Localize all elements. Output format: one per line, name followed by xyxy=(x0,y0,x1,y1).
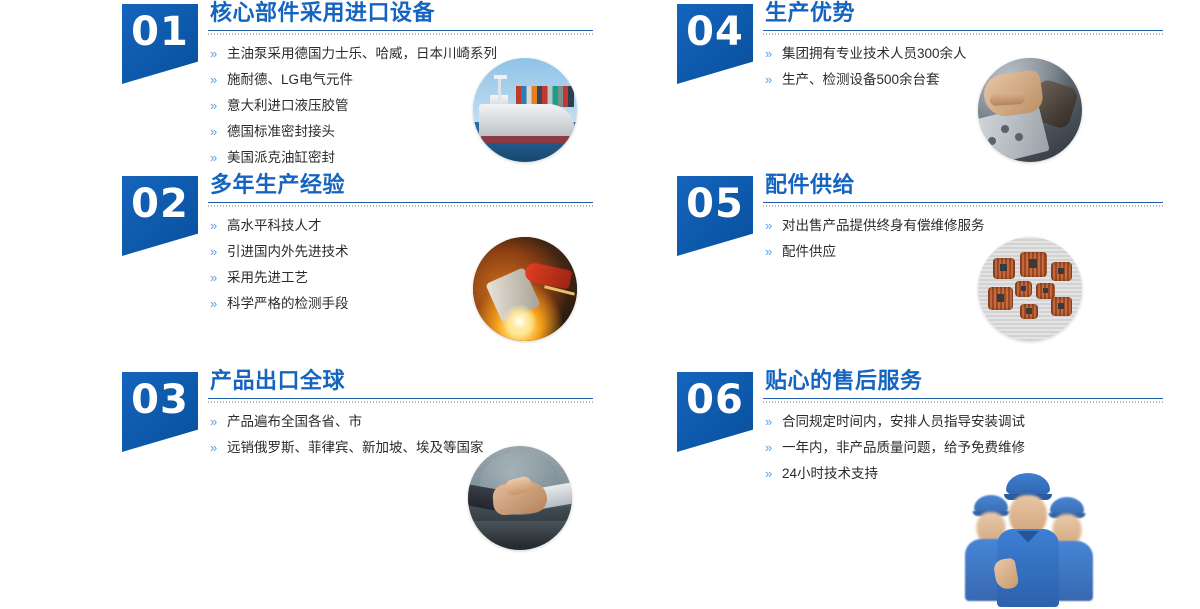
welding-sparks-photo xyxy=(473,237,577,341)
title-divider xyxy=(208,202,593,208)
divider-dotted-line xyxy=(763,33,1163,35)
list-item-label: 一年内，非产品质量问题，给予免费维修 xyxy=(782,440,1025,455)
list-item-label: 产品遍布全国各省、市 xyxy=(227,414,362,429)
list-item-label: 合同规定时间内，安排人员指导安装调试 xyxy=(782,414,1025,429)
list-item-label: 施耐德、LG电气元件 xyxy=(227,72,353,87)
list-item: » 一年内，非产品质量问题，给予免费维修 xyxy=(765,439,1200,457)
divider-dotted-line xyxy=(763,205,1163,207)
chevron-right-icon: » xyxy=(765,439,772,457)
list-item-label: 科学严格的检测手段 xyxy=(227,296,349,311)
chevron-right-icon: » xyxy=(765,413,772,431)
chevron-right-icon: » xyxy=(210,243,217,261)
chevron-right-icon: » xyxy=(765,71,772,89)
divider-solid-line xyxy=(763,202,1163,203)
worker-center xyxy=(997,473,1059,604)
number-badge-01: 01 xyxy=(122,4,198,84)
feature-title: 产品出口全球 xyxy=(208,368,665,396)
list-item: » 对出售产品提供终身有偿维修服务 xyxy=(765,217,1200,235)
feature-title: 贴心的售后服务 xyxy=(763,368,1200,396)
feature-title: 核心部件采用进口设备 xyxy=(208,0,665,28)
feature-title: 配件供给 xyxy=(763,172,1200,200)
spark-glow xyxy=(502,304,537,339)
list-item-label: 高水平科技人才 xyxy=(227,218,322,233)
list-item: » 意大利进口液压胶管 xyxy=(210,97,665,115)
list-item-label: 配件供应 xyxy=(782,244,836,259)
photo-inner xyxy=(473,58,577,162)
chevron-right-icon: » xyxy=(210,97,217,115)
feature-content-02: 多年生产经验 » 高水平科技人才 » 引进国内外先进技术 » xyxy=(208,172,665,367)
badge-number: 02 xyxy=(122,184,198,224)
list-item: » 远销俄罗斯、菲律宾、新加坡、埃及等国家 xyxy=(210,439,665,457)
feature-bullet-list: » 高水平科技人才 » 引进国内外先进技术 » 采用先进工艺 » 科学严格的检测… xyxy=(208,208,665,313)
feature-block-04: 04 生产优势 » 集团拥有专业技术人员300余人 » 生产、检测设备500余台… xyxy=(665,0,1200,195)
photo-inner xyxy=(473,237,577,341)
feature-content-01: 核心部件采用进口设备 » 主油泵采用德国力士乐、哈威，日本川崎系列 » 施耐德、… xyxy=(208,0,665,195)
list-item: » 科学严格的检测手段 xyxy=(210,295,665,313)
number-badge-06: 06 xyxy=(677,372,753,452)
list-item: » 高水平科技人才 xyxy=(210,217,665,235)
badge-number: 03 xyxy=(122,380,198,420)
copper-coil xyxy=(993,258,1016,279)
list-item: » 美国派克油缸密封 xyxy=(210,149,665,167)
feature-title: 生产优势 xyxy=(763,0,1200,28)
feature-title: 多年生产经验 xyxy=(208,172,665,200)
list-item-label: 对出售产品提供终身有偿维修服务 xyxy=(782,218,985,233)
list-item-label: 远销俄罗斯、菲律宾、新加坡、埃及等国家 xyxy=(227,440,484,455)
badge-number: 06 xyxy=(677,380,753,420)
title-divider xyxy=(763,202,1163,208)
chevron-right-icon: » xyxy=(765,217,772,235)
bolt-hole xyxy=(1001,125,1009,133)
ship-hull-waterline xyxy=(481,136,573,143)
chevron-right-icon: » xyxy=(765,465,772,483)
copper-coil xyxy=(1020,252,1047,277)
list-item-label: 德国标准密封接头 xyxy=(227,124,335,139)
feature-block-01: 01 核心部件采用进口设备 » 主油泵采用德国力士乐、哈威，日本川崎系列 » 施… xyxy=(110,0,665,195)
feature-block-06: 06 贴心的售后服务 » 合同规定时间内，安排人员指导安装调试 » 一年内，非产… xyxy=(665,368,1200,563)
copper-coil xyxy=(1020,304,1039,320)
number-badge-02: 02 xyxy=(122,176,198,256)
number-badge-05: 05 xyxy=(677,176,753,256)
divider-solid-line xyxy=(763,30,1163,31)
copper-coil xyxy=(1051,262,1072,281)
divider-solid-line xyxy=(208,30,593,31)
chevron-right-icon: » xyxy=(765,243,772,261)
title-divider xyxy=(208,30,593,36)
list-item: » 引进国内外先进技术 xyxy=(210,243,665,261)
divider-dotted-line xyxy=(208,33,593,35)
copper-coil xyxy=(1051,297,1072,316)
feature-content-03: 产品出口全球 » 产品遍布全国各省、市 » 远销俄罗斯、菲律宾、新加坡、埃及等国… xyxy=(208,368,665,563)
divider-dotted-line xyxy=(208,205,593,207)
chevron-right-icon: » xyxy=(210,439,217,457)
list-item-label: 24小时技术支持 xyxy=(782,466,878,481)
badge-number: 01 xyxy=(122,12,198,52)
list-item-label: 生产、检测设备500余台套 xyxy=(782,72,940,87)
list-item-label: 引进国内外先进技术 xyxy=(227,244,349,259)
chevron-right-icon: » xyxy=(210,295,217,313)
divider-dotted-line xyxy=(208,401,593,403)
copper-coils-photo xyxy=(978,237,1082,341)
chevron-right-icon: » xyxy=(210,123,217,141)
photo-inner xyxy=(978,237,1082,341)
photo-inner xyxy=(468,446,572,550)
badge-number: 04 xyxy=(677,12,753,52)
divider-solid-line xyxy=(208,202,593,203)
list-item: » 施耐德、LG电气元件 xyxy=(210,71,665,89)
feature-bullet-list: » 主油泵采用德国力士乐、哈威，日本川崎系列 » 施耐德、LG电气元件 » 意大… xyxy=(208,36,665,167)
list-item-label: 采用先进工艺 xyxy=(227,270,308,285)
divider-solid-line xyxy=(763,398,1163,399)
handshake-globe-photo xyxy=(468,446,572,550)
list-item-label: 主油泵采用德国力士乐、哈威，日本川崎系列 xyxy=(227,46,497,61)
list-item: » 主油泵采用德国力士乐、哈威，日本川崎系列 xyxy=(210,45,665,63)
feature-bullet-list: » 产品遍布全国各省、市 » 远销俄罗斯、菲律宾、新加坡、埃及等国家 xyxy=(208,404,665,457)
chevron-right-icon: » xyxy=(210,71,217,89)
copper-coil xyxy=(1015,281,1032,298)
list-item: » 合同规定时间内，安排人员指导安装调试 xyxy=(765,413,1200,431)
list-item-label: 美国派克油缸密封 xyxy=(227,150,335,165)
title-divider xyxy=(763,398,1163,404)
badge-number: 05 xyxy=(677,184,753,224)
feature-block-05: 05 配件供给 » 对出售产品提供终身有偿维修服务 » 配件供应 xyxy=(665,172,1200,367)
service-team-photo xyxy=(965,469,1095,604)
number-badge-04: 04 xyxy=(677,4,753,84)
machining-assembly-photo xyxy=(978,58,1082,162)
list-item: » 产品遍布全国各省、市 xyxy=(210,413,665,431)
feature-block-grid: 01 核心部件采用进口设备 » 主油泵采用德国力士乐、哈威，日本川崎系列 » 施… xyxy=(0,0,1200,609)
list-item: » 德国标准密封接头 xyxy=(210,123,665,141)
list-item: » 采用先进工艺 xyxy=(210,269,665,287)
container-ship-photo xyxy=(473,58,577,162)
surface-reflection xyxy=(468,521,572,550)
divider-solid-line xyxy=(208,398,593,399)
number-badge-03: 03 xyxy=(122,372,198,452)
list-item-label: 意大利进口液压胶管 xyxy=(227,98,349,113)
feature-block-02: 02 多年生产经验 » 高水平科技人才 » 引进国内外先进技术 xyxy=(110,172,665,367)
photo-inner xyxy=(978,58,1082,162)
chevron-right-icon: » xyxy=(210,149,217,167)
feature-block-03: 03 产品出口全球 » 产品遍布全国各省、市 » 远销俄罗斯、菲律宾、新加坡、埃… xyxy=(110,368,665,563)
ship-mast-top xyxy=(494,75,508,79)
chevron-right-icon: » xyxy=(210,269,217,287)
chevron-right-icon: » xyxy=(765,45,772,63)
ship-hull xyxy=(479,104,575,139)
chevron-right-icon: » xyxy=(210,45,217,63)
divider-dotted-line xyxy=(763,401,1163,403)
chevron-right-icon: » xyxy=(210,217,217,235)
title-divider xyxy=(208,398,593,404)
chevron-right-icon: » xyxy=(210,413,217,431)
title-divider xyxy=(763,30,1163,36)
list-item-label: 集团拥有专业技术人员300余人 xyxy=(782,46,967,61)
advantages-infographic: 01 核心部件采用进口设备 » 主油泵采用德国力士乐、哈威，日本川崎系列 » 施… xyxy=(0,0,1200,609)
copper-coil xyxy=(988,287,1013,310)
